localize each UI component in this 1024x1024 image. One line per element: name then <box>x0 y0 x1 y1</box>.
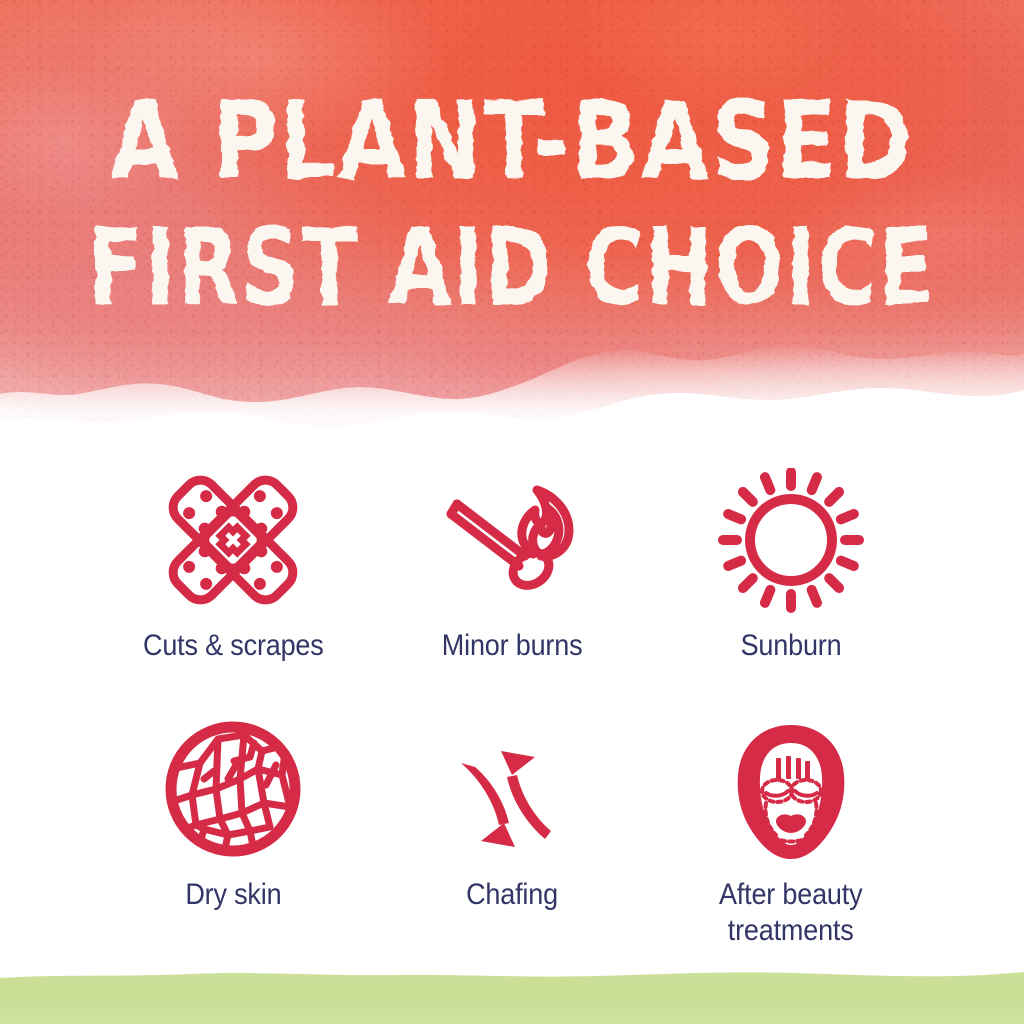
benefit-label: Chafing <box>466 877 558 914</box>
cracked-skin-circle-icon <box>153 717 313 867</box>
green-watercolor-footer <box>0 964 1024 1024</box>
icon-row-1: Cuts & scrapes <box>0 468 1024 665</box>
lit-match-flame-icon <box>432 468 592 618</box>
benefit-item-minor-burns[interactable]: Minor burns <box>397 468 627 665</box>
benefit-icon-grid: Cuts & scrapes <box>0 468 1024 950</box>
benefit-item-dry-skin[interactable]: Dry skin <box>118 717 348 950</box>
two-way-friction-arrows-icon <box>432 717 592 867</box>
benefit-label: Cuts & scrapes <box>143 628 324 665</box>
benefit-label: Minor burns <box>442 628 583 665</box>
benefit-item-chafing[interactable]: Chafing <box>397 717 627 950</box>
headline-line-1: A PLANT-BASED <box>110 96 914 204</box>
poster-canvas: A PLANT-BASED FIRST AID CHOICE <box>0 0 1024 1024</box>
sun-icon <box>711 468 871 618</box>
benefit-label: After beauty treatments <box>719 877 862 950</box>
benefit-item-cuts-scrapes[interactable]: Cuts & scrapes <box>118 468 348 665</box>
benefit-label: Dry skin <box>185 877 281 914</box>
crossed-bandages-icon <box>153 468 313 618</box>
headline-line-2: FIRST AID CHOICE <box>88 206 936 330</box>
face-cosmetic-markings-icon <box>711 717 871 867</box>
benefit-item-sunburn[interactable]: Sunburn <box>676 468 906 665</box>
icon-row-2: Dry skin Chafi <box>0 717 1024 950</box>
benefit-item-after-beauty-treatments[interactable]: After beauty treatments <box>676 717 906 950</box>
benefit-label: Sunburn <box>741 628 842 665</box>
headline-block: A PLANT-BASED FIRST AID CHOICE <box>0 96 1024 346</box>
headline-brush-text: A PLANT-BASED FIRST AID CHOICE <box>0 96 1024 346</box>
green-strip-shape <box>0 964 1024 1024</box>
